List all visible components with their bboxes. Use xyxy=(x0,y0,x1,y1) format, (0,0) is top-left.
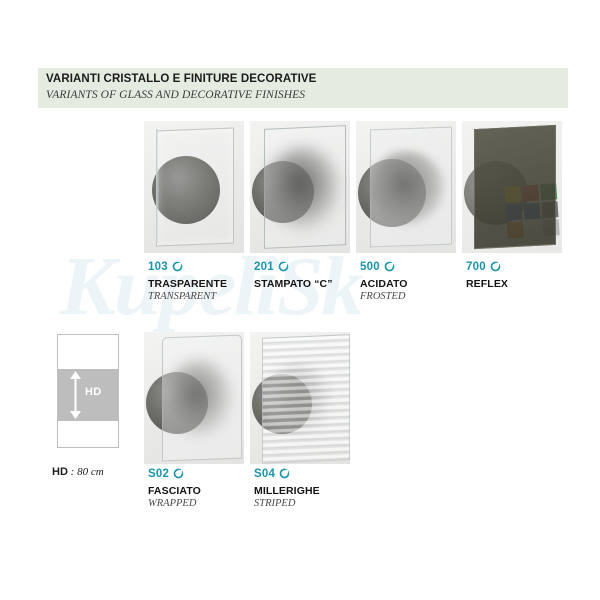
hd-caption-value: 80 cm xyxy=(77,466,104,478)
glass-finish-circle-icon xyxy=(278,261,289,272)
finish-label-700[interactable]: 700 REFLEX xyxy=(466,259,508,291)
finish-code: 103 xyxy=(148,261,168,273)
glass-pane xyxy=(474,125,556,249)
finish-label-103[interactable]: 103 TRASPARENTE TRANSPARENT xyxy=(148,259,227,302)
finish-code-row: S02 xyxy=(148,466,201,481)
sample-image-frosted[interactable] xyxy=(356,121,456,253)
sample-image-transparent[interactable] xyxy=(144,121,244,253)
finish-name-italian: FASCIATO xyxy=(148,485,201,497)
finish-name-italian: TRASPARENTE xyxy=(148,278,227,290)
diffused-sphere xyxy=(166,360,232,436)
finish-code-row: 201 xyxy=(254,259,333,274)
glass-edge xyxy=(156,129,159,243)
finish-label-s02[interactable]: S02 FASCIATO WRAPPED xyxy=(148,466,201,509)
glass-finish-circle-icon xyxy=(173,468,184,479)
hd-double-arrow-icon xyxy=(69,371,82,419)
hd-caption-label: HD xyxy=(52,466,68,478)
glass-finish-circle-icon xyxy=(279,468,290,479)
page-title-italian: VARIANTI CRISTALLO E FINITURE DECORATIVE xyxy=(46,73,316,85)
page-title-english: VARIANTS OF GLASS AND DECORATIVE FINISHE… xyxy=(46,89,305,101)
finish-name-italian: STAMPATO “C” xyxy=(254,278,333,290)
hd-diagram: HD xyxy=(57,334,119,448)
finish-code-row: S04 xyxy=(254,466,320,481)
sample-image-wrapped[interactable] xyxy=(144,332,244,464)
glass-finish-circle-icon xyxy=(490,261,501,272)
finish-code: 201 xyxy=(254,261,274,273)
finish-name-italian: ACIDATO xyxy=(360,278,408,290)
glass-pane-striped xyxy=(262,334,350,464)
finish-name-english: WRAPPED xyxy=(148,498,201,509)
finish-label-201[interactable]: 201 STAMPATO “C” xyxy=(254,259,333,291)
sample-image-printed-c[interactable] xyxy=(250,121,350,253)
diffused-sphere xyxy=(266,147,340,229)
finish-name-english: STRIPED xyxy=(254,498,320,509)
finish-code: S04 xyxy=(254,468,275,480)
section-header-band: VARIANTI CRISTALLO E FINITURE DECORATIVE… xyxy=(38,68,568,108)
finish-code-row: 103 xyxy=(148,259,227,274)
hd-arrow-label: HD xyxy=(85,386,102,398)
finish-name-italian: MILLERIGHE xyxy=(254,485,320,497)
finish-label-s04[interactable]: S04 MILLERIGHE STRIPED xyxy=(254,466,320,509)
sample-image-reflex[interactable] xyxy=(462,121,562,253)
finish-label-500[interactable]: 500 ACIDATO FROSTED xyxy=(360,259,408,302)
finish-code: 700 xyxy=(466,261,486,273)
glass-pane xyxy=(156,128,234,247)
finish-name-english: FROSTED xyxy=(360,291,408,302)
finish-code: 500 xyxy=(360,261,380,273)
diffused-sphere xyxy=(370,151,444,225)
finish-name-italian: REFLEX xyxy=(466,278,508,290)
finish-code: S02 xyxy=(148,468,169,480)
hd-caption-sep: : xyxy=(68,466,77,478)
sample-image-striped[interactable] xyxy=(250,332,350,464)
finish-code-row: 700 xyxy=(466,259,508,274)
glass-finish-circle-icon xyxy=(384,261,395,272)
glass-finish-circle-icon xyxy=(172,261,183,272)
finish-name-english: TRANSPARENT xyxy=(148,291,227,302)
hd-caption: HD : 80 cm xyxy=(52,466,104,478)
finish-code-row: 500 xyxy=(360,259,408,274)
